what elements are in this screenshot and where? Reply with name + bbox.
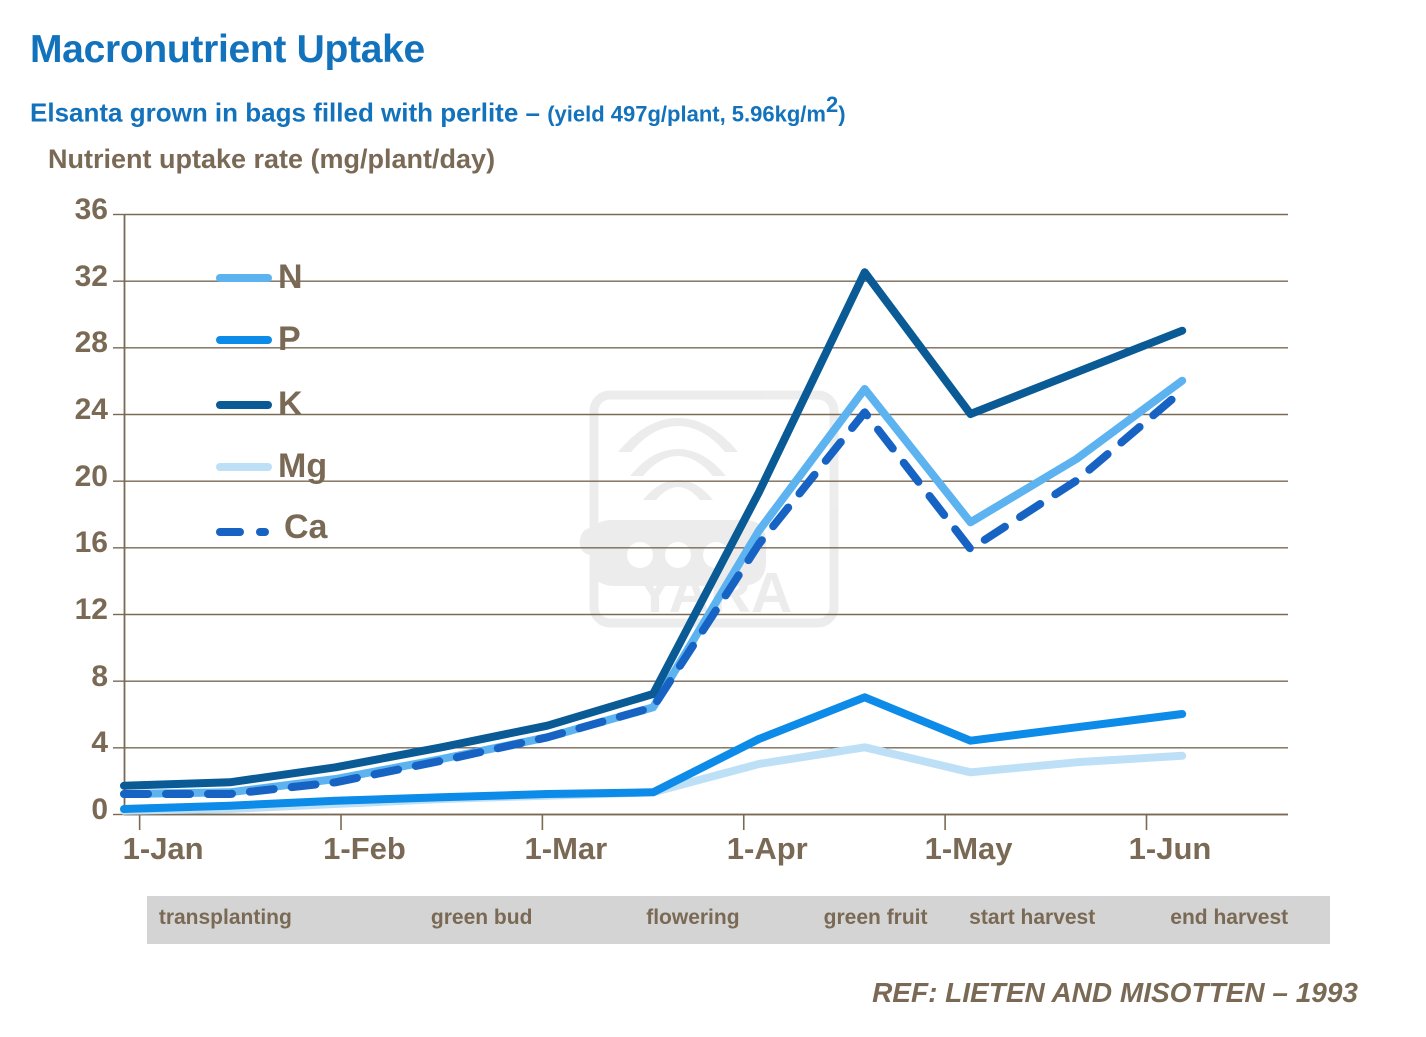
svg-text:YARA: YARA [636,561,792,625]
legend-item-Ca[interactable]: Ca [216,508,327,547]
legend-swatch-Mg [216,463,272,471]
legend-label-Mg: Mg [278,447,327,486]
stage-label-3: green fruit [824,906,928,930]
legend-swatch-N [216,274,272,282]
stage-label-4: start harvest [969,906,1095,930]
reference-note: REF: LIETEN AND MISOTTEN – 1993 [872,977,1358,1009]
legend-swatch-P [216,336,272,344]
legend-label-Ca: Ca [284,508,327,547]
legend-item-Mg[interactable]: Mg [216,447,327,486]
y-axis-tick-label: 28 [38,326,108,360]
legend-label-P: P [278,320,301,359]
page-title: Macronutrient Uptake [30,28,425,72]
subtitle-detail-post: ) [838,102,845,127]
y-axis-tick-label: 20 [38,460,108,494]
stage-label-5: end harvest [1170,906,1288,930]
y-axis-title: Nutrient uptake rate (mg/plant/day) [48,144,495,175]
series-line-P [124,697,1182,809]
growth-stage-bar: transplantinggreen budfloweringgreen fru… [147,896,1330,944]
legend-item-P[interactable]: P [216,320,301,359]
y-axis-tick-label: 0 [38,793,108,827]
stage-label-0: transplanting [159,906,292,930]
y-axis-tick-label: 8 [38,660,108,694]
legend-label-N: N [278,258,303,297]
x-axis-tick-label: 1-May [869,831,1069,867]
legend-swatch-K [216,401,272,409]
x-axis-tick-label: 1-Apr [667,831,867,867]
legend-label-K: K [278,385,303,424]
subtitle-detail-superscript: 2 [826,92,838,117]
page-subtitle: Elsanta grown in bags filled with perlit… [30,92,846,129]
y-axis-tick-label: 36 [38,193,108,227]
series-line-Mg [124,747,1182,810]
y-axis-tick-label: 32 [38,260,108,294]
legend-swatch-Ca [216,524,278,532]
stage-label-2: flowering [646,906,739,930]
stage-label-1: green bud [431,906,533,930]
x-axis-tick-label: 1-Feb [265,831,465,867]
y-axis-tick-label: 4 [38,726,108,760]
x-axis-tick-label: 1-Jan [63,831,263,867]
legend-item-K[interactable]: K [216,385,303,424]
subtitle-detail-pre: (yield 497g/plant, 5.96kg/m [547,102,826,127]
y-axis-tick-label: 24 [38,393,108,427]
legend-item-N[interactable]: N [216,258,303,297]
series-line-N [124,381,1182,794]
x-axis-tick-label: 1-Jun [1070,831,1270,867]
y-axis-tick-label: 12 [38,593,108,627]
yara-watermark: YARA [580,395,834,625]
subtitle-main: Elsanta grown in bags filled with perlit… [30,98,547,128]
y-axis-tick-label: 16 [38,526,108,560]
x-axis-tick-label: 1-Mar [466,831,666,867]
x-axis-ticks [140,814,1147,830]
